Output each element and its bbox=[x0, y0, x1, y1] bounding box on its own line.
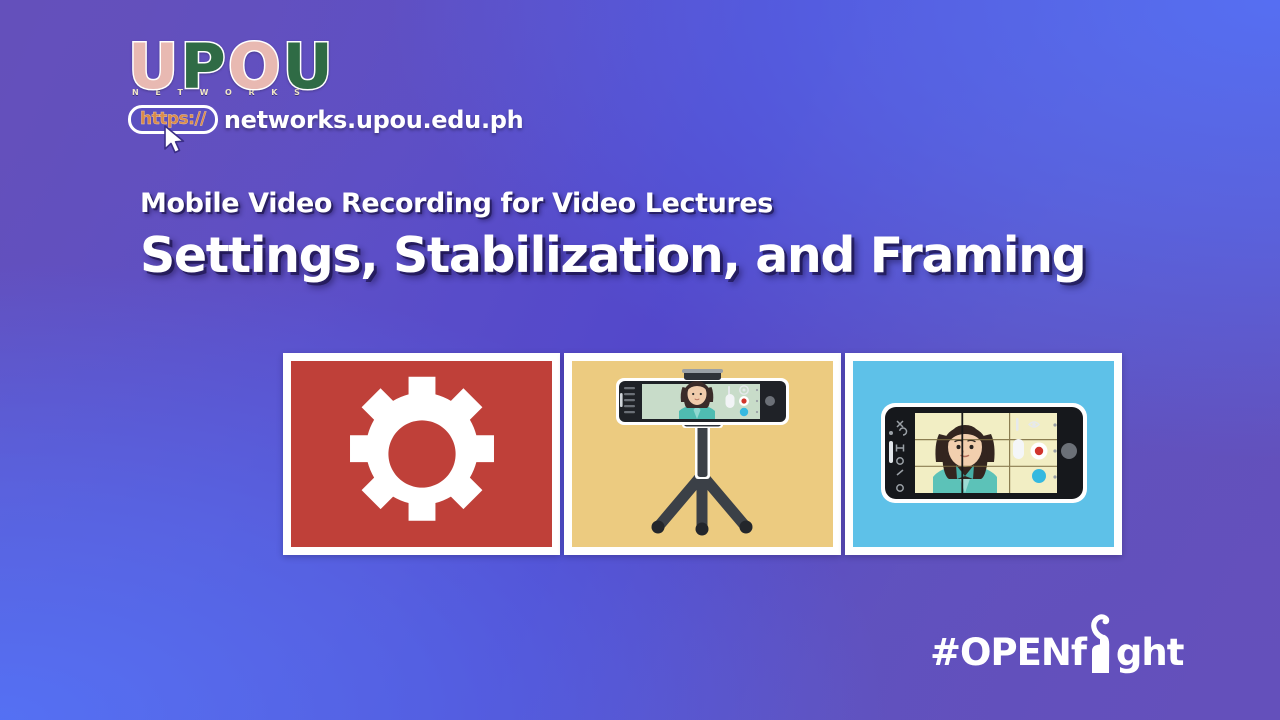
framing-illustration bbox=[853, 361, 1114, 547]
website-url[interactable]: https:// networks.upou.edu.ph bbox=[128, 105, 523, 134]
gear-icon bbox=[338, 370, 506, 538]
tripod-illustration bbox=[572, 361, 833, 547]
slide-title: Settings, Stabilization, and Framing bbox=[140, 227, 1085, 284]
hashtag-suffix: ght bbox=[1116, 631, 1184, 674]
card-settings-canvas bbox=[291, 361, 552, 547]
upou-networks-logo: U P O U N E T W O R K S https:// network… bbox=[128, 36, 523, 134]
card-stabilization-canvas bbox=[572, 361, 833, 547]
slide-stage: U P O U N E T W O R K S https:// network… bbox=[0, 0, 1280, 720]
upou-wordmark: U P O U bbox=[128, 36, 523, 94]
campaign-hashtag: #OPENf ght bbox=[930, 630, 1183, 674]
upou-letter-o: O bbox=[228, 40, 281, 94]
upou-letter-u1: U bbox=[128, 40, 178, 94]
hashtag-prefix: #OPENf bbox=[930, 631, 1086, 674]
url-domain-text: networks.upou.edu.ph bbox=[224, 106, 524, 134]
card-settings[interactable] bbox=[283, 353, 560, 555]
upou-letter-u2: U bbox=[283, 40, 333, 94]
upou-letter-p: P bbox=[180, 40, 225, 94]
card-stabilization[interactable] bbox=[564, 353, 841, 555]
topic-card-row bbox=[283, 353, 1122, 555]
card-framing[interactable] bbox=[845, 353, 1122, 555]
phone-rule-of-thirds-grid-icon bbox=[853, 361, 1114, 547]
title-block: Mobile Video Recording for Video Lecture… bbox=[140, 188, 1085, 284]
slide-subtitle: Mobile Video Recording for Video Lecture… bbox=[140, 188, 1085, 219]
raised-fist-icon bbox=[1086, 630, 1116, 674]
card-framing-canvas bbox=[853, 361, 1114, 547]
phone-on-tripod-icon bbox=[572, 361, 833, 547]
